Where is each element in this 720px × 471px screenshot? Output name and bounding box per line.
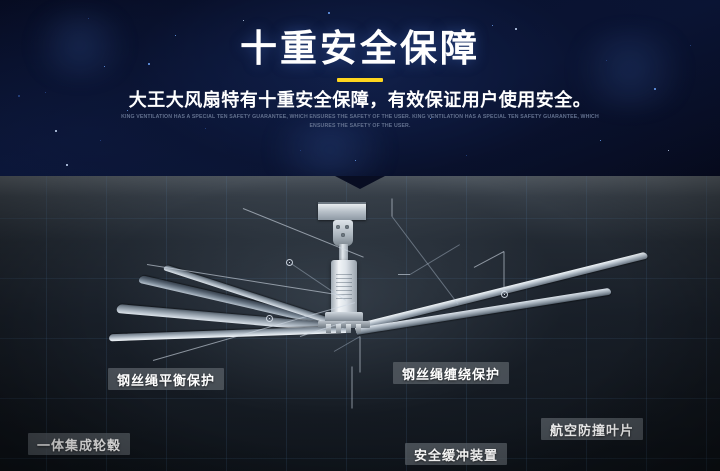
callout-safety-buffer[interactable]: 安全缓冲装置 [405, 443, 507, 465]
callout-wire-rope-winding[interactable]: 钢丝绳缠绕保护 [393, 362, 509, 384]
english-caption: KING VENTILATION HAS A SPECIAL TEN SAFET… [120, 113, 600, 131]
leader-line-wire-rope-winding [392, 199, 393, 217]
page-title: 十重安全保障 [0, 26, 720, 72]
banner-header: 十重安全保障 大王大风扇特有十重安全保障，有效保证用户使用安全。 KING VE… [0, 0, 720, 176]
leader-line-anti-fall-ring [352, 367, 353, 409]
page-subtitle: 大王大风扇特有十重安全保障，有效保证用户使用安全。 [0, 88, 720, 112]
mount-yoke-bracket [333, 220, 353, 246]
callout-aviation-blade[interactable]: 航空防撞叶片 [541, 418, 643, 440]
callout-wire-rope-balance[interactable]: 钢丝绳平衡保护 [108, 368, 224, 390]
leader-line-aviation-blade-drop [504, 252, 505, 294]
leader-line-anti-fall-lock [360, 337, 361, 373]
callout-integrated-hub[interactable]: 一体集成轮毂 [28, 433, 130, 455]
ceiling-mount-plate [318, 202, 366, 220]
product-feature-banner: 十重安全保障 大王大风扇特有十重安全保障，有效保证用户使用安全。 KING VE… [0, 0, 720, 471]
title-accent-rule [337, 78, 383, 82]
leader-node-mortise-tenon [266, 315, 273, 322]
leader-line-safety-buffer [398, 274, 410, 275]
fan-diagram-section: 钢丝绳平衡保护 钢丝绳缠绕保护 一体集成轮毂 安全缓冲装置 航空防撞叶片 叶片高… [0, 176, 720, 471]
leader-node-aviation-blade [501, 291, 508, 298]
